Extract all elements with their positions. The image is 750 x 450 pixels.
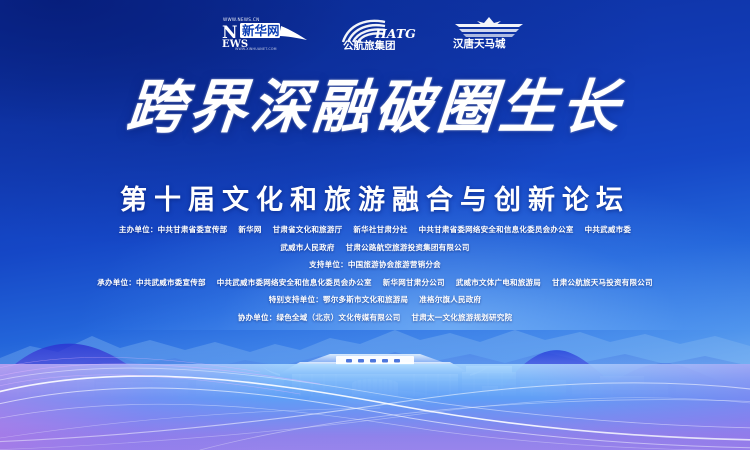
credit-line: 特别支持单位：鄂尔多斯市文化和旅游局准格尔旗人民政府 bbox=[0, 291, 750, 309]
hatg-logo[interactable]: HATG 公航旅集团 bbox=[341, 14, 421, 50]
svg-text:汉唐天马城: 汉唐天马城 bbox=[453, 37, 506, 50]
credit-org: 新华社甘肃分社 bbox=[353, 225, 407, 234]
credit-org: 新华网甘肃分公司 bbox=[383, 278, 445, 287]
svg-text:新华网: 新华网 bbox=[242, 23, 280, 38]
hantang-tianma-city-logo[interactable]: 汉唐天马城 bbox=[449, 14, 529, 50]
svg-text:WWW.XINHUANET.COM: WWW.XINHUANET.COM bbox=[235, 47, 277, 50]
credit-line: 武威市人民政府甘肃公路航空旅游投资集团有限公司 bbox=[0, 239, 750, 257]
forum-subtitle-text: 第十届文化和旅游融合与创新论坛 bbox=[120, 178, 630, 217]
hantang-tianma-city-logo-icon: 汉唐天马城 bbox=[449, 14, 529, 50]
credit-org: 甘肃公路航空旅游投资集团有限公司 bbox=[346, 243, 470, 252]
svg-text:WWW.NEWS.CN: WWW.NEWS.CN bbox=[223, 17, 260, 22]
main-title-part1: 跨界深融 bbox=[124, 78, 377, 136]
credit-label: 特别支持单位： bbox=[269, 295, 323, 304]
credit-line: 主办单位：中共甘肃省委宣传部新华网甘肃省文化和旅游厅新华社甘肃分社中共甘肃省委网… bbox=[0, 221, 750, 239]
xinhuanet-logo[interactable]: WWW.NEWS.CN N EWS 新华网 WWW.XINHUANET.COM bbox=[221, 14, 313, 50]
credit-label: 主办单位： bbox=[119, 225, 158, 234]
svg-text:公航旅集团: 公航旅集团 bbox=[343, 39, 396, 50]
credit-label: 协办单位： bbox=[238, 313, 277, 322]
credit-org: 鄂尔多斯市文化和旅游局 bbox=[323, 295, 408, 304]
ground-bottom-fade bbox=[0, 424, 750, 450]
credit-label: 承办单位： bbox=[97, 278, 136, 287]
credits-block: 主办单位：中共甘肃省委宣传部新华网甘肃省文化和旅游厅新华社甘肃分社中共甘肃省委网… bbox=[0, 221, 750, 327]
credit-org: 武威市文体广电和旅游局 bbox=[456, 278, 541, 287]
credit-org: 中共甘肃省委网络安全和信息化委员会办公室 bbox=[419, 225, 574, 234]
svg-text:HATG: HATG bbox=[374, 26, 416, 41]
credit-org: 中国旅游协会旅游营销分会 bbox=[348, 260, 441, 269]
event-poster: WWW.NEWS.CN N EWS 新华网 WWW.XINHUANET.COM … bbox=[0, 0, 750, 450]
credit-line: 承办单位：中共武威市委宣传部中共武威市委网络安全和信息化委员会办公室新华网甘肃分… bbox=[0, 274, 750, 292]
credit-line: 协办单位：绿色全域（北京）文化传媒有限公司甘肃太一文化旅游规划研究院 bbox=[0, 309, 750, 327]
credit-org: 武威市人民政府 bbox=[280, 243, 334, 252]
credit-org: 中共武威市委 bbox=[585, 225, 632, 234]
xinhuanet-logo-icon: WWW.NEWS.CN N EWS 新华网 WWW.XINHUANET.COM bbox=[221, 14, 313, 50]
hatg-logo-icon: HATG 公航旅集团 bbox=[341, 14, 421, 50]
credit-org: 甘肃省文化和旅游厅 bbox=[273, 225, 343, 234]
main-title: 跨界深融破圈生长 bbox=[0, 78, 750, 136]
credit-org: 准格尔旗人民政府 bbox=[419, 295, 481, 304]
credit-org: 甘肃公航旅天马投资有限公司 bbox=[552, 278, 653, 287]
credit-org: 甘肃太一文化旅游规划研究院 bbox=[412, 313, 513, 322]
forum-subtitle: 第十届文化和旅游融合与创新论坛 bbox=[0, 178, 750, 217]
credit-line: 支持单位：中国旅游协会旅游营销分会 bbox=[0, 256, 750, 274]
credit-label: 支持单位： bbox=[309, 260, 348, 269]
sponsor-logo-bar: WWW.NEWS.CN N EWS 新华网 WWW.XINHUANET.COM … bbox=[0, 14, 750, 50]
main-title-part2: 破圈生长 bbox=[372, 78, 625, 136]
credit-org: 新华网 bbox=[238, 225, 261, 234]
credit-org: 中共武威市委网络安全和信息化委员会办公室 bbox=[217, 278, 372, 287]
credit-org: 中共甘肃省委宣传部 bbox=[158, 225, 228, 234]
credit-org: 绿色全域（北京）文化传媒有限公司 bbox=[277, 313, 401, 322]
credit-org: 中共武威市委宣传部 bbox=[136, 278, 206, 287]
